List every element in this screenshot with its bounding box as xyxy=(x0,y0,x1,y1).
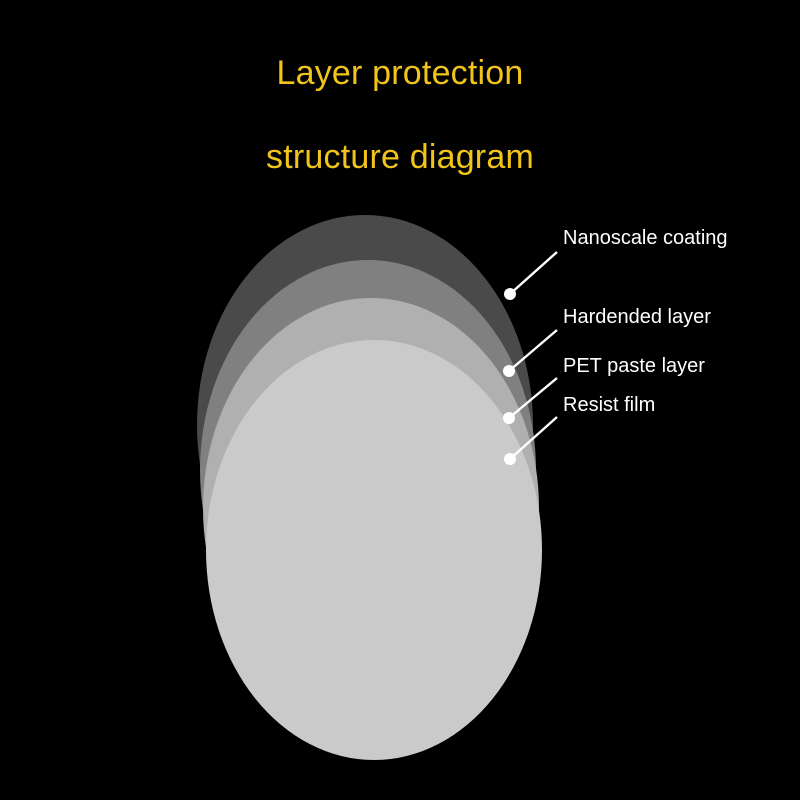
label-hardended-layer: Hardended layer xyxy=(563,306,711,328)
leader-dot-nanoscale-coating xyxy=(504,288,516,300)
leader-line-nanoscale-coating xyxy=(510,252,557,294)
label-nanoscale-coating: Nanoscale coating xyxy=(563,227,728,249)
label-pet-paste-layer: PET paste layer xyxy=(563,355,705,377)
layer-shape-resist-film xyxy=(206,340,542,760)
label-resist-film: Resist film xyxy=(563,394,655,416)
leader-dot-hardended-layer xyxy=(503,365,515,377)
leader-dot-resist-film xyxy=(504,453,516,465)
diagram-canvas: Layer protection structure diagram xyxy=(0,0,800,800)
leader-dot-pet-paste-layer xyxy=(503,412,515,424)
layer-shapes xyxy=(197,215,542,760)
leader-nanoscale-coating xyxy=(504,252,557,300)
layer-stack-illustration xyxy=(0,0,800,800)
